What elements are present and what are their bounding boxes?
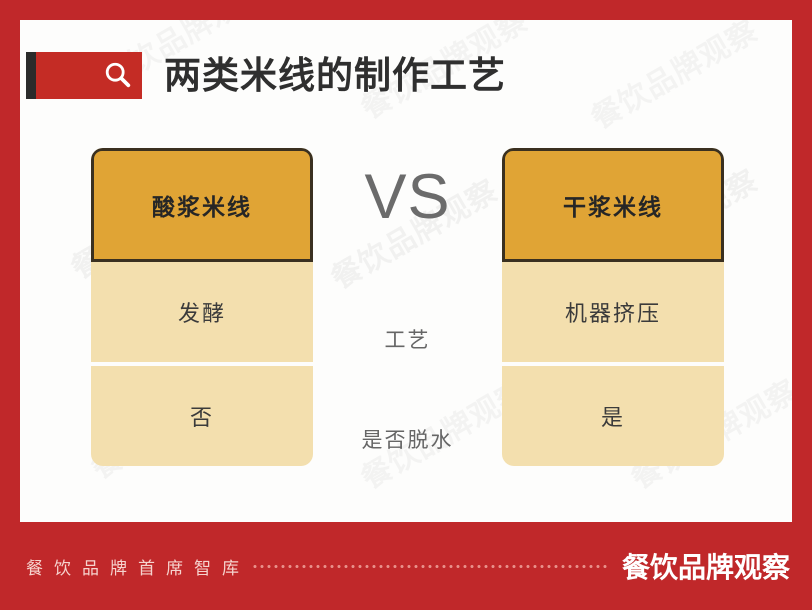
card-cell-left-1: 否: [91, 366, 313, 466]
comparison-table: 酸浆米线 发酵 否 VS 工艺 是否脱水 干浆米线: [20, 20, 792, 522]
card-title-right: 干浆米线: [563, 188, 663, 222]
row-label-0: 工艺: [313, 324, 502, 354]
card-cell-label: 是: [601, 400, 625, 432]
card-cell-right-1: 是: [502, 366, 724, 466]
content-sheet: 餐饮品牌观察 餐饮品牌观察 餐饮品牌观察 餐饮品牌观察 餐饮品牌观察 餐饮品牌观…: [20, 20, 792, 522]
footer-logo: 餐饮品牌观察: [622, 546, 790, 586]
card-header-right: 干浆米线: [502, 148, 724, 262]
card-cell-label: 发酵: [178, 296, 226, 328]
footer-tagline: 餐饮品牌首席智库: [26, 554, 250, 579]
vs-label: VS: [313, 166, 502, 229]
comparison-card-left: 酸浆米线 发酵 否: [91, 148, 313, 466]
card-cell-right-0: 机器挤压: [502, 262, 724, 362]
footer: 餐饮品牌首席智库 餐饮品牌观察: [0, 522, 812, 610]
card-title-left: 酸浆米线: [152, 188, 252, 222]
card-cell-label: 机器挤压: [565, 296, 661, 328]
card-cell-left-0: 发酵: [91, 262, 313, 362]
comparison-card-right: 干浆米线 机器挤压 是: [502, 148, 724, 466]
footer-dotted-divider: [252, 565, 608, 568]
infographic-canvas: 餐饮品牌观察 餐饮品牌观察 餐饮品牌观察 餐饮品牌观察 餐饮品牌观察 餐饮品牌观…: [0, 0, 812, 610]
comparison-middle-column: VS 工艺 是否脱水: [313, 148, 502, 466]
card-cell-label: 否: [190, 400, 214, 432]
row-label-1: 是否脱水: [313, 424, 502, 454]
card-header-left: 酸浆米线: [91, 148, 313, 262]
